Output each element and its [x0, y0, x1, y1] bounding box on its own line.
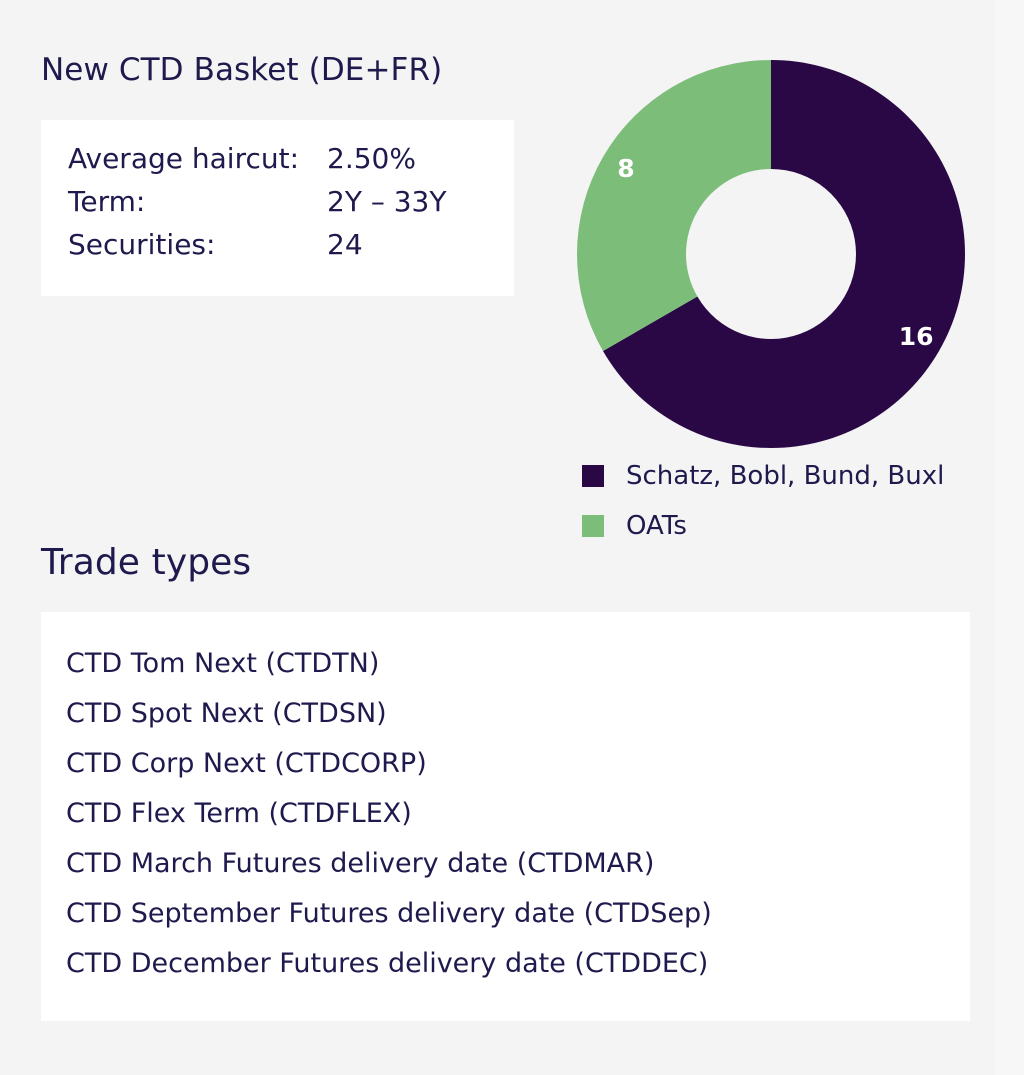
ctd-basket-donut-chart: 8 16 — [565, 48, 977, 460]
basket-row-value: 2Y – 33Y — [327, 185, 446, 228]
table-row: Securities: 24 — [68, 228, 446, 271]
table-row: Term: 2Y – 33Y — [68, 185, 446, 228]
donut-svg: 8 16 — [565, 48, 977, 460]
trade-types-list: CTD Tom Next (CTDTN) CTD Spot Next (CTDS… — [66, 639, 952, 989]
list-item[interactable]: CTD Corp Next (CTDCORP) — [66, 739, 952, 789]
chart-legend: Schatz, Bobl, Bund, Buxl OATs — [582, 458, 982, 558]
basket-row-label: Average haircut: — [68, 142, 327, 185]
legend-item-schatz[interactable]: Schatz, Bobl, Bund, Buxl — [582, 458, 982, 493]
table-row: Average haircut: 2.50% — [68, 142, 446, 185]
trade-types-card: CTD Tom Next (CTDTN) CTD Spot Next (CTDS… — [41, 612, 970, 1021]
legend-swatch-icon — [582, 515, 604, 537]
donut-label-oats: 8 — [617, 154, 634, 183]
basket-summary-body: Average haircut: 2.50% Term: 2Y – 33Y Se… — [68, 142, 446, 271]
list-item[interactable]: CTD September Futures delivery date (CTD… — [66, 889, 952, 939]
list-item[interactable]: CTD Tom Next (CTDTN) — [66, 639, 952, 689]
donut-label-schatz: 16 — [899, 322, 934, 351]
donut-slice-oats[interactable] — [577, 60, 771, 351]
basket-row-value: 2.50% — [327, 142, 446, 185]
basket-section-title: New CTD Basket (DE+FR) — [41, 52, 442, 88]
basket-summary-table: Average haircut: 2.50% Term: 2Y – 33Y Se… — [68, 142, 446, 271]
list-item[interactable]: CTD March Futures delivery date (CTDMAR) — [66, 839, 952, 889]
trade-types-section-title: Trade types — [41, 542, 251, 583]
list-item[interactable]: CTD Spot Next (CTDSN) — [66, 689, 952, 739]
basket-row-value: 24 — [327, 228, 446, 271]
legend-item-oats[interactable]: OATs — [582, 508, 982, 543]
basket-row-label: Term: — [68, 185, 327, 228]
list-item[interactable]: CTD December Futures delivery date (CTDD… — [66, 939, 952, 989]
legend-swatch-icon — [582, 465, 604, 487]
list-item[interactable]: CTD Flex Term (CTDFLEX) — [66, 789, 952, 839]
slide-root: New CTD Basket (DE+FR) Average haircut: … — [0, 0, 1024, 1075]
legend-item-label: Schatz, Bobl, Bund, Buxl — [626, 461, 944, 491]
basket-row-label: Securities: — [68, 228, 327, 271]
legend-item-label: OATs — [626, 511, 687, 541]
basket-summary-card: Average haircut: 2.50% Term: 2Y – 33Y Se… — [41, 120, 514, 296]
